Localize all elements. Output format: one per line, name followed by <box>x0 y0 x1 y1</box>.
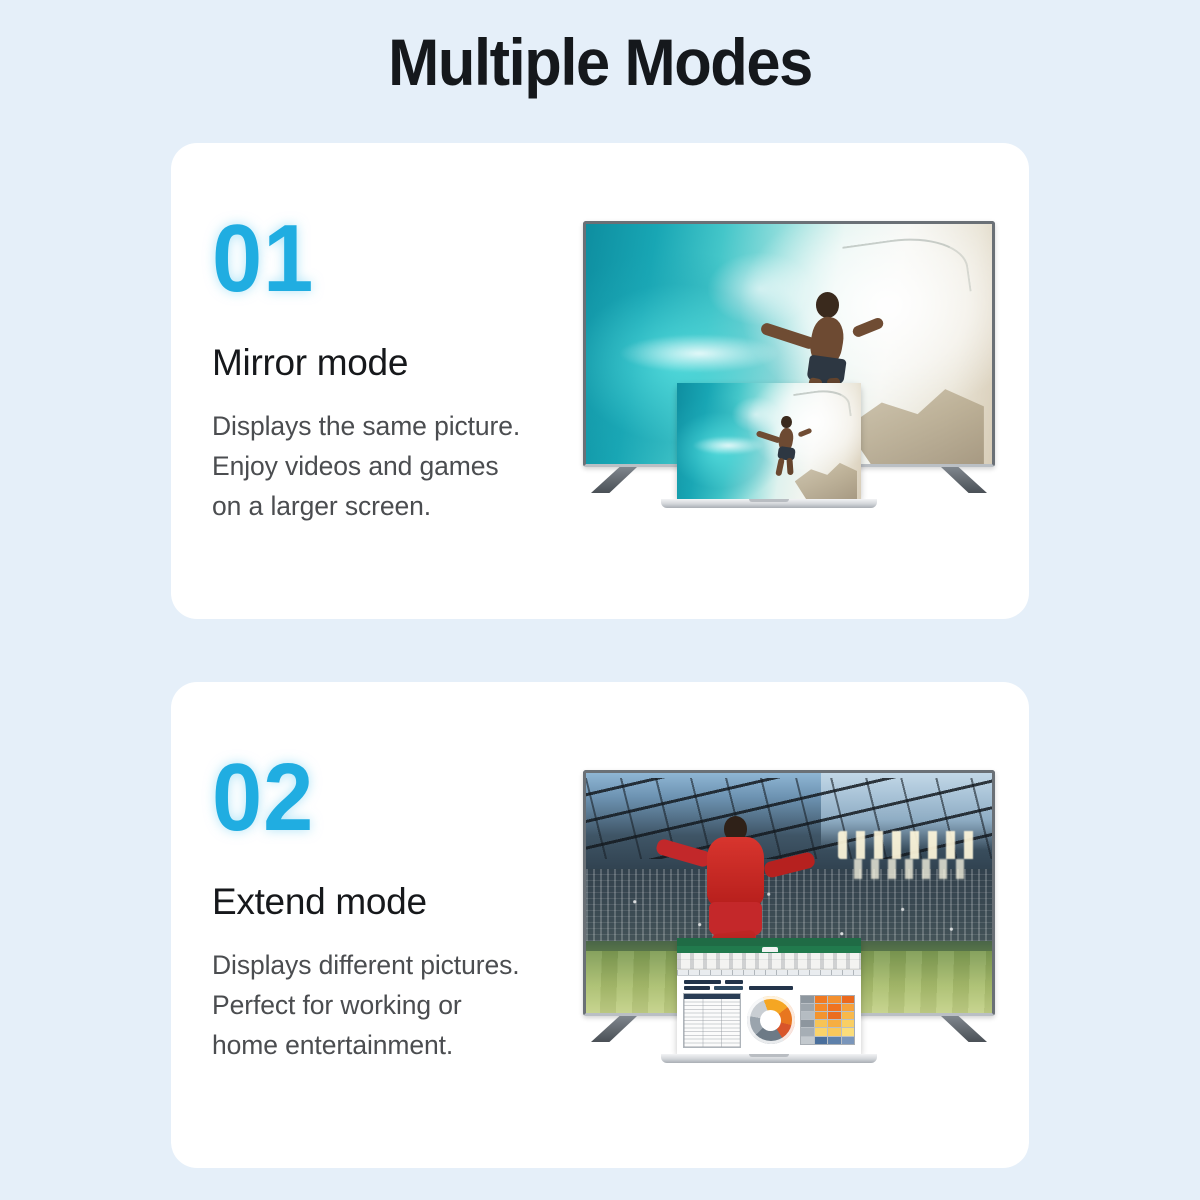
mode-card-mirror: 01 Mirror mode Displays the same picture… <box>171 143 1029 619</box>
mode-description-extend: Displays different pictures. Perfect for… <box>212 945 592 1065</box>
spreadsheet-toolbar <box>681 953 857 970</box>
laptop-base <box>661 499 877 508</box>
spreadsheet-body <box>681 976 857 1049</box>
laptop-base <box>661 1054 877 1063</box>
mode-description-mirror: Displays the same picture. Enjoy videos … <box>212 406 592 526</box>
step-number-02: 02 <box>212 754 569 842</box>
laptop-screen-spreadsheet <box>681 942 857 1049</box>
step-number-01: 01 <box>212 215 569 303</box>
laptop-icon <box>677 938 861 1063</box>
mode-description-line: Enjoy videos and games <box>212 446 592 486</box>
mode-description-line: Displays different pictures. <box>212 945 592 985</box>
laptop-icon <box>677 383 861 508</box>
mode-description-line: Perfect for working or <box>212 985 592 1025</box>
mode-description-line: Displays the same picture. <box>212 406 592 446</box>
mode-card-text-column: 01 Mirror mode Displays the same picture… <box>212 215 592 526</box>
mode-description-line: home entertainment. <box>212 1025 592 1065</box>
spreadsheet-data-table <box>683 993 742 1047</box>
mode-card-text-column: 02 Extend mode Displays different pictur… <box>212 754 592 1065</box>
page-title: Multiple Modes <box>42 26 1158 100</box>
spreadsheet-ribbon <box>681 946 857 953</box>
laptop-screen-wave-surfer <box>681 387 857 494</box>
mode-card-extend: 02 Extend mode Displays different pictur… <box>171 682 1029 1168</box>
heatmap-chart <box>800 995 855 1045</box>
mirror-mode-illustration <box>581 221 1011 541</box>
extend-mode-illustration <box>581 770 1011 1100</box>
mode-description-line: on a larger screen. <box>212 486 592 526</box>
mode-title-extend: Extend mode <box>212 882 592 923</box>
mode-title-mirror: Mirror mode <box>212 343 592 384</box>
